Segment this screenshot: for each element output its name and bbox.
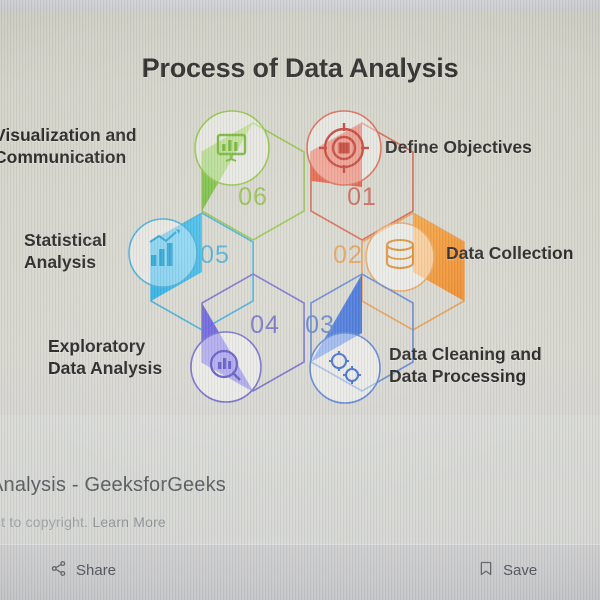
share-label: Share — [76, 562, 116, 579]
step-label-statistical-analysis: Statistical Analysis — [24, 230, 107, 273]
copyright-text: ect to copyright. — [0, 514, 88, 530]
action-bar-divider — [0, 544, 600, 545]
step-label-define-objectives: Define Objectives — [385, 137, 532, 159]
result-title[interactable]: Analysis - GeeksforGeeks — [0, 474, 226, 497]
hex-step-01[interactable]: 01 — [307, 111, 413, 240]
action-bar: Share Save — [0, 544, 600, 600]
hex-03-number: 03 — [305, 311, 335, 339]
step-label-exploratory-data-analysis: Exploratory Data Analysis — [48, 336, 162, 379]
hex-01-number: 01 — [347, 183, 377, 211]
hex-04-number: 04 — [250, 311, 280, 339]
hex-step-04[interactable]: 04 — [191, 274, 304, 402]
save-label: Save — [503, 562, 537, 579]
hex-06-icon-circle — [195, 111, 269, 185]
step-label-data-cleaning-and-processing: Data Cleaning and Data Processing — [389, 344, 542, 387]
hex-02-number: 02 — [333, 241, 363, 269]
hex-06-number: 06 — [238, 183, 268, 211]
share-button[interactable]: Share — [50, 560, 116, 581]
hex-03-icon-circle — [310, 333, 380, 403]
step-label-data-collection: Data Collection — [446, 243, 573, 265]
save-button[interactable]: Save — [478, 560, 537, 581]
page-title: Process of Data Analysis — [0, 53, 600, 84]
step-label-visualization-and-communication: Visualization and Communication — [0, 125, 137, 168]
hex-step-05[interactable]: 05 — [129, 213, 253, 330]
top-chrome-strip — [0, 0, 600, 11]
image-viewer-area[interactable]: Process of Data Analysis — [0, 11, 600, 415]
share-icon — [50, 560, 67, 581]
copyright-note: ect to copyright. Learn More — [0, 514, 166, 530]
photographed-screen: Process of Data Analysis — [0, 0, 600, 600]
learn-more-link[interactable]: Learn More — [92, 514, 166, 530]
hex-05-number: 05 — [200, 241, 230, 269]
hex-step-06[interactable]: 06 — [195, 111, 304, 240]
hex-02-icon-circle — [366, 223, 434, 291]
bookmark-icon — [478, 560, 494, 581]
